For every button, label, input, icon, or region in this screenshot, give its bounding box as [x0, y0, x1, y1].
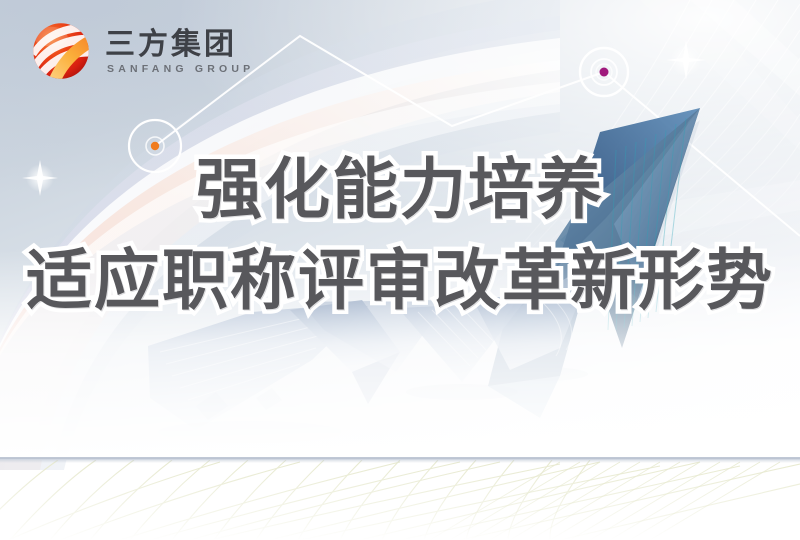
brand-logo: 三方集团 SANFANG GROUP [28, 18, 254, 84]
brand-name-cn: 三方集团 [105, 29, 254, 61]
brand-logo-text: 三方集团 SANFANG GROUP [105, 27, 254, 76]
section-divider-shadow [0, 460, 800, 463]
sanfang-globe-swoosh-logo [28, 18, 94, 84]
headline-line-1: 强化能力培养 [0, 152, 800, 228]
headline-line-2: 适应职称评审改革新形势 [0, 243, 800, 319]
magenta-node-marker [580, 48, 628, 96]
promo-banner: 三方集团 SANFANG GROUP 强化能力培养 适应职称评审改革新形势 [0, 0, 800, 540]
brand-name-en: SANFANG GROUP [105, 63, 254, 75]
radial-fan-lines-bottom [0, 460, 800, 540]
